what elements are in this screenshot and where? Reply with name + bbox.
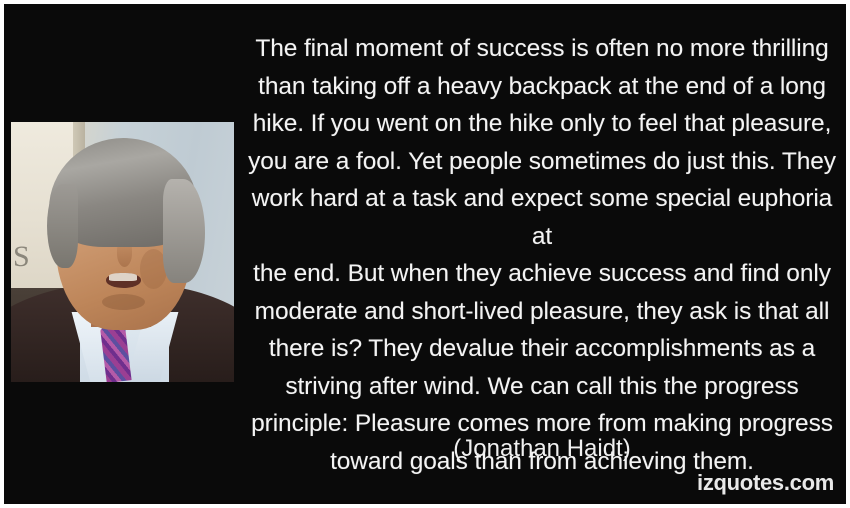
portrait-photo: S bbox=[11, 122, 234, 382]
site-watermark: izquotes.com bbox=[697, 470, 834, 496]
quote-card-inner: S bbox=[4, 4, 846, 504]
portrait-chin-shadow bbox=[102, 294, 146, 310]
author-portrait: S bbox=[11, 122, 234, 382]
quote-card: S bbox=[0, 0, 850, 508]
portrait-hair-right bbox=[163, 179, 205, 283]
portrait-hair-left bbox=[47, 184, 78, 267]
photo-backdrop-letter: S bbox=[13, 240, 31, 274]
portrait-teeth bbox=[109, 273, 138, 280]
quote-body-text: The final moment of success is often no … bbox=[242, 30, 842, 480]
quote-author-attribution: (Jonathan Haidt) bbox=[242, 434, 842, 464]
